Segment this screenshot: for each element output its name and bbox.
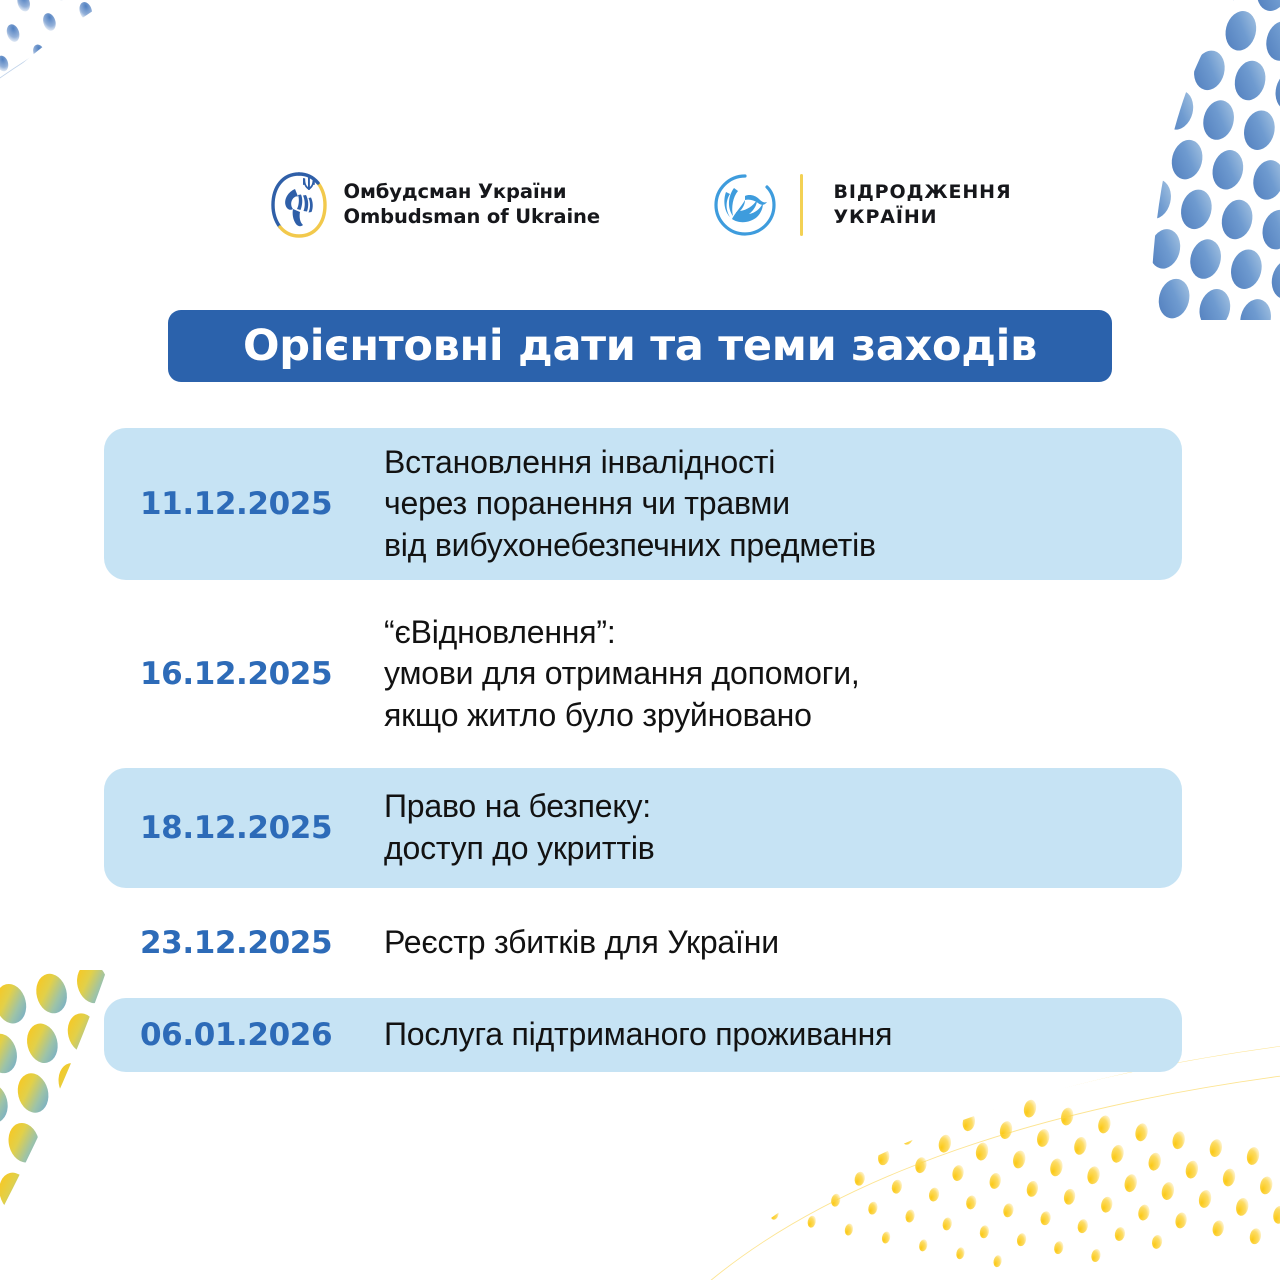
top-right-ellipse-grid-decoration <box>960 0 1280 320</box>
revival-logo-text: ВІДРОДЖЕННЯ УКРАЇНИ <box>833 180 1011 231</box>
schedule-row-3-topic-line-1: Право на безпеку: <box>384 786 1160 828</box>
ombudsman-dove-trident-icon <box>268 169 330 241</box>
schedule-gap-2 <box>104 754 1182 768</box>
schedule-gap-3 <box>104 892 1182 906</box>
page-title: Орієнтовні дати та теми заходів <box>243 321 1037 371</box>
title-banner: Орієнтовні дати та теми заходів <box>168 310 1112 382</box>
schedule-row-4-topic: Реєстр збитків для України <box>384 922 1160 964</box>
schedule-row-2-topic-line-1: “єВідновлення”: <box>384 612 1160 654</box>
schedule-row-3: 18.12.2025 Право на безпеку: доступ до у… <box>104 768 1182 888</box>
revival-logo-line-2: УКРАЇНИ <box>833 205 1011 230</box>
schedule-row-4: 23.12.2025 Реєстр збитків для України <box>104 906 1182 980</box>
schedule-gap-1 <box>104 584 1182 598</box>
schedule-row-3-topic: Право на безпеку: доступ до укриттів <box>384 786 1160 869</box>
poster-page: Омбудсман України Ombudsman of Ukraine В… <box>0 0 1280 1280</box>
schedule-row-2-date: 16.12.2025 <box>126 656 384 692</box>
schedule-row-1-topic-line-1: Встановлення інвалідності <box>384 442 1160 484</box>
schedule-row-1-topic: Встановлення інвалідності через пораненн… <box>384 442 1160 567</box>
schedule-row-5-date: 06.01.2026 <box>126 1017 384 1053</box>
schedule-row-2: 16.12.2025 “єВідновлення”: умови для отр… <box>104 598 1182 750</box>
schedule-gap-4 <box>104 984 1182 998</box>
ombudsman-logo-line-uk: Омбудсман України <box>343 180 600 205</box>
schedule-row-2-topic-line-2: умови для отримання допомоги, <box>384 653 1160 695</box>
ombudsman-logo-line-en: Ombudsman of Ukraine <box>343 205 600 230</box>
schedule-row-5-topic: Послуга підтриманого проживання <box>384 1014 1160 1056</box>
revival-logo: ВІДРОДЖЕННЯ УКРАЇНИ <box>712 172 1012 238</box>
schedule-row-5: 06.01.2026 Послуга підтриманого проживан… <box>104 998 1182 1072</box>
logo-bar: Омбудсман України Ombudsman of Ukraine В… <box>0 163 1280 247</box>
schedule-row-1: 11.12.2025 Встановлення інвалідності чер… <box>104 428 1182 580</box>
schedule-row-3-topic-line-2: доступ до укриттів <box>384 828 1160 870</box>
revival-logo-line-1: ВІДРОДЖЕННЯ <box>833 180 1011 205</box>
logo-divider <box>800 174 804 236</box>
ombudsman-logo-text: Омбудсман України Ombudsman of Ukraine <box>343 180 600 230</box>
schedule-row-1-topic-line-3: від вибухонебезпечних предметів <box>384 525 1160 567</box>
schedule-row-2-topic-line-3: якщо житло було зруйновано <box>384 695 1160 737</box>
schedule-row-4-date: 23.12.2025 <box>126 925 384 961</box>
schedule-row-2-topic: “єВідновлення”: умови для отримання допо… <box>384 612 1160 737</box>
schedule-row-1-topic-line-2: через поранення чи травми <box>384 483 1160 525</box>
ombudsman-logo: Омбудсман України Ombudsman of Ukraine <box>268 169 600 241</box>
schedule-row-5-topic-line-1: Послуга підтриманого проживання <box>384 1014 1160 1056</box>
schedule-list: 11.12.2025 Встановлення інвалідності чер… <box>104 428 1182 1076</box>
phoenix-bird-icon <box>712 172 778 238</box>
schedule-row-1-date: 11.12.2025 <box>126 486 384 522</box>
schedule-row-4-topic-line-1: Реєстр збитків для України <box>384 922 1160 964</box>
schedule-row-3-date: 18.12.2025 <box>126 810 384 846</box>
